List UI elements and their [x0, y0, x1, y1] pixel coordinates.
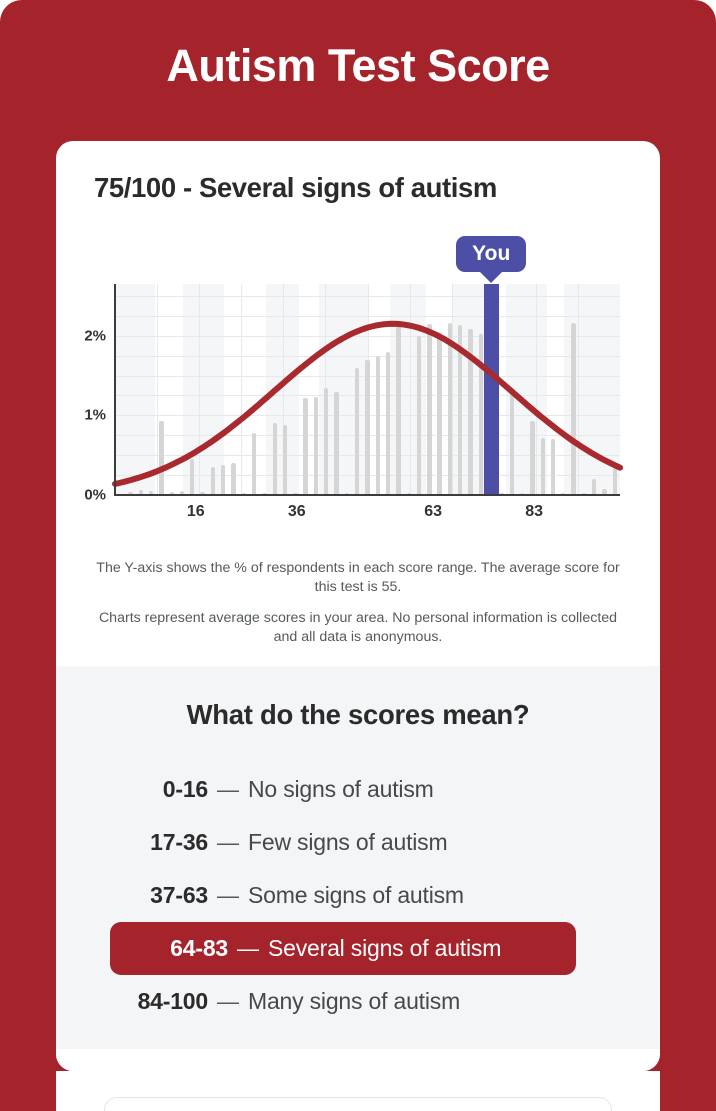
score-range-row: 37-63—Some signs of autism: [56, 869, 660, 922]
chart-x-tick-label: 36: [288, 503, 306, 521]
score-range-value: 0-16: [110, 776, 208, 803]
chart-caption-yaxis: The Y-axis shows the % of respondents in…: [94, 559, 622, 597]
score-range-dash: —: [228, 936, 268, 962]
score-range-row: 84-100—Many signs of autism: [56, 975, 660, 1028]
score-range-description: Many signs of autism: [248, 988, 460, 1015]
score-range-dash: —: [208, 830, 248, 856]
page-title: Autism Test Score: [0, 40, 716, 92]
score-range-row: 0-16—No signs of autism: [56, 763, 660, 816]
score-heading: 75/100 - Several signs of autism: [94, 172, 497, 204]
chart-caption-privacy: Charts represent average scores in your …: [94, 609, 622, 647]
chart-x-tick-label: 83: [525, 503, 543, 521]
result-card: 75/100 - Several signs of autism 0%1%2%1…: [56, 141, 660, 1071]
score-range-value: 84-100: [110, 988, 208, 1015]
meanings-title: What do the scores mean?: [56, 699, 660, 731]
bottom-cta-box[interactable]: [104, 1097, 612, 1111]
score-range-description: Several signs of autism: [268, 935, 501, 962]
score-range-dash: —: [208, 883, 248, 909]
score-range-dash: —: [208, 989, 248, 1015]
bottom-panel-partial: [56, 1071, 660, 1111]
chart-y-tick-label: 1%: [84, 407, 106, 424]
score-range-description: No signs of autism: [248, 776, 434, 803]
chart-y-tick-label: 0%: [84, 487, 106, 504]
chart-y-axis-line: [114, 284, 116, 495]
score-range-value: 64-83: [110, 935, 228, 962]
score-range-row: 17-36—Few signs of autism: [56, 816, 660, 869]
score-range-value: 17-36: [110, 829, 208, 856]
score-range-description: Few signs of autism: [248, 829, 447, 856]
chart-plot-area: 0%1%2%16366383: [115, 284, 620, 495]
score-range-row-active: 64-83—Several signs of autism: [110, 922, 576, 975]
chart-x-tick-label: 16: [187, 503, 205, 521]
you-marker-badge: You: [456, 236, 526, 272]
chart-x-axis-line: [114, 494, 620, 496]
card-bottom-spacer: [56, 1049, 660, 1071]
score-distribution-chart: 0%1%2%16366383You: [56, 221, 660, 526]
score-range-dash: —: [208, 777, 248, 803]
score-meanings-section: What do the scores mean? 0-16—No signs o…: [56, 666, 660, 1049]
chart-y-tick-label: 2%: [84, 327, 106, 344]
chart-distribution-curve: [115, 284, 620, 495]
autism-test-result-screen: Autism Test Score 75/100 - Several signs…: [0, 0, 716, 1111]
score-range-description: Some signs of autism: [248, 882, 464, 909]
chart-x-tick-label: 63: [424, 503, 442, 521]
score-range-list: 0-16—No signs of autism17-36—Few signs o…: [56, 763, 660, 1028]
score-range-value: 37-63: [110, 882, 208, 909]
